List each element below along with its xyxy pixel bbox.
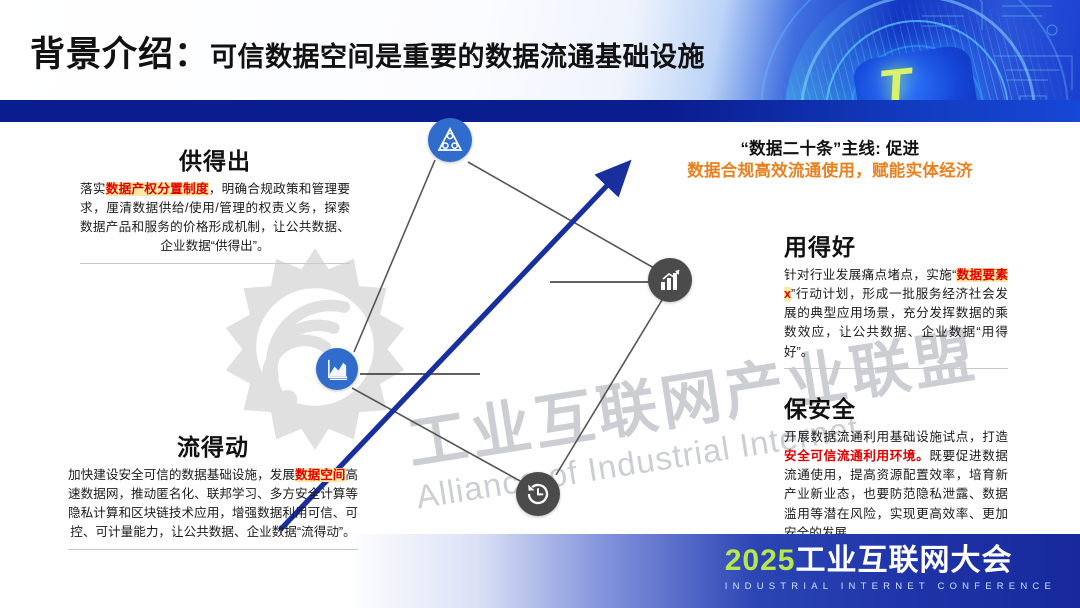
card-flow-heading: 流得动 bbox=[68, 428, 358, 462]
card-use-heading: 用得好 bbox=[784, 228, 1008, 262]
page-title: 背景介绍：可信数据空间是重要的数据流通基础设施 bbox=[30, 26, 705, 77]
right-headline-line2: 数据合规高效流通使用，赋能实体经济 bbox=[650, 160, 1010, 182]
link-growth-history bbox=[556, 300, 662, 475]
header-blue-band bbox=[0, 100, 1080, 122]
link-hierarchy-growth bbox=[468, 162, 654, 268]
card-safety-body-pre: 开展数据流通利用基础设施试点，打造 bbox=[784, 430, 1008, 444]
card-use-divider bbox=[784, 368, 1008, 369]
card-safety-body: 开展数据流通利用基础设施试点，打造安全可信流通利用环境。既要促进数据流通使用，提… bbox=[784, 428, 1008, 543]
link-history-analytics bbox=[352, 388, 522, 482]
card-safety: 保安全 开展数据流通利用基础设施试点，打造安全可信流通利用环境。既要促进数据流通… bbox=[784, 390, 1008, 543]
conference-logo-name-en: INDUSTRIAL INTERNET CONFERENCE bbox=[725, 581, 1056, 592]
card-supply: 供得出 落实数据产权分置制度，明确合规政策和管理要求，厘清数据供给/使用/管理的… bbox=[80, 142, 350, 264]
conference-logo-name-cn: 工业互联网大会 bbox=[796, 544, 1013, 577]
diagram-node-growth[interactable] bbox=[648, 258, 692, 302]
line-chart-icon bbox=[325, 357, 350, 382]
header-logo-letter: T bbox=[878, 57, 910, 100]
diagram-node-hierarchy[interactable] bbox=[428, 118, 472, 162]
card-flow-body: 加快建设安全可信的数据基础设施，发展数据空间高速数据网，推动匿名化、联邦学习、多… bbox=[68, 466, 358, 543]
bar-chart-arrow-icon bbox=[657, 267, 683, 293]
card-safety-heading: 保安全 bbox=[784, 390, 1008, 424]
clock-history-icon bbox=[525, 481, 551, 507]
card-supply-heading: 供得出 bbox=[80, 142, 350, 176]
card-use-body-pre: 针对行业发展痛点堵点，实施“ bbox=[784, 268, 956, 282]
card-flow: 流得动 加快建设安全可信的数据基础设施，发展数据空间高速数据网，推动匿名化、联邦… bbox=[68, 428, 358, 550]
diagram-node-history[interactable] bbox=[516, 472, 560, 516]
conference-logo: 2025工业互联网大会 INDUSTRIAL INTERNET CONFEREN… bbox=[725, 546, 1056, 592]
slide-header: T 背景介绍：可信数据空间是重要的数据流通基础设施 bbox=[0, 0, 1080, 100]
conference-logo-main: 2025工业互联网大会 bbox=[725, 546, 1056, 576]
card-supply-body-pre: 落实 bbox=[80, 182, 106, 196]
slide-root: T 背景介绍：可信数据空间是重要的数据流通基础设施 工业互联网产业联盟 Alli… bbox=[0, 0, 1080, 608]
card-supply-body: 落实数据产权分置制度，明确合规政策和管理要求，厘清数据供给/使用/管理的权责义务… bbox=[80, 180, 350, 257]
card-use-body: 针对行业发展痛点堵点，实施“数据要素x”行动计划，形成一批服务经济社会发展的典型… bbox=[784, 266, 1008, 362]
conference-logo-year: 2025 bbox=[725, 544, 796, 577]
pyramid-hierarchy-icon bbox=[437, 127, 463, 153]
diagram-node-analytics[interactable] bbox=[316, 348, 358, 390]
card-supply-divider bbox=[80, 263, 350, 264]
right-headline: “数据二十条”主线: 促进 数据合规高效流通使用，赋能实体经济 bbox=[650, 138, 1010, 183]
card-use: 用得好 针对行业发展痛点堵点，实施“数据要素x”行动计划，形成一批服务经济社会发… bbox=[784, 228, 1008, 369]
link-hierarchy-analytics bbox=[354, 160, 435, 352]
card-flow-body-pre: 加快建设安全可信的数据基础设施，发展 bbox=[68, 468, 295, 482]
header-tech-graphic: T bbox=[730, 0, 1080, 100]
card-flow-body-highlight: 数据空间 bbox=[295, 468, 345, 482]
page-title-main: 背景介绍： bbox=[30, 35, 210, 74]
card-use-body-post: ”行动计划，形成一批服务经济社会发展的典型应用场景，充分发挥数据的乘数效应，让公… bbox=[784, 287, 1008, 358]
card-safety-body-highlight: 安全可信流通利用环境。 bbox=[784, 449, 929, 463]
card-supply-body-highlight: 数据产权分置制度 bbox=[106, 182, 209, 196]
page-title-sub: 可信数据空间是重要的数据流通基础设施 bbox=[210, 42, 705, 72]
right-headline-line1: “数据二十条”主线: 促进 bbox=[650, 138, 1010, 160]
